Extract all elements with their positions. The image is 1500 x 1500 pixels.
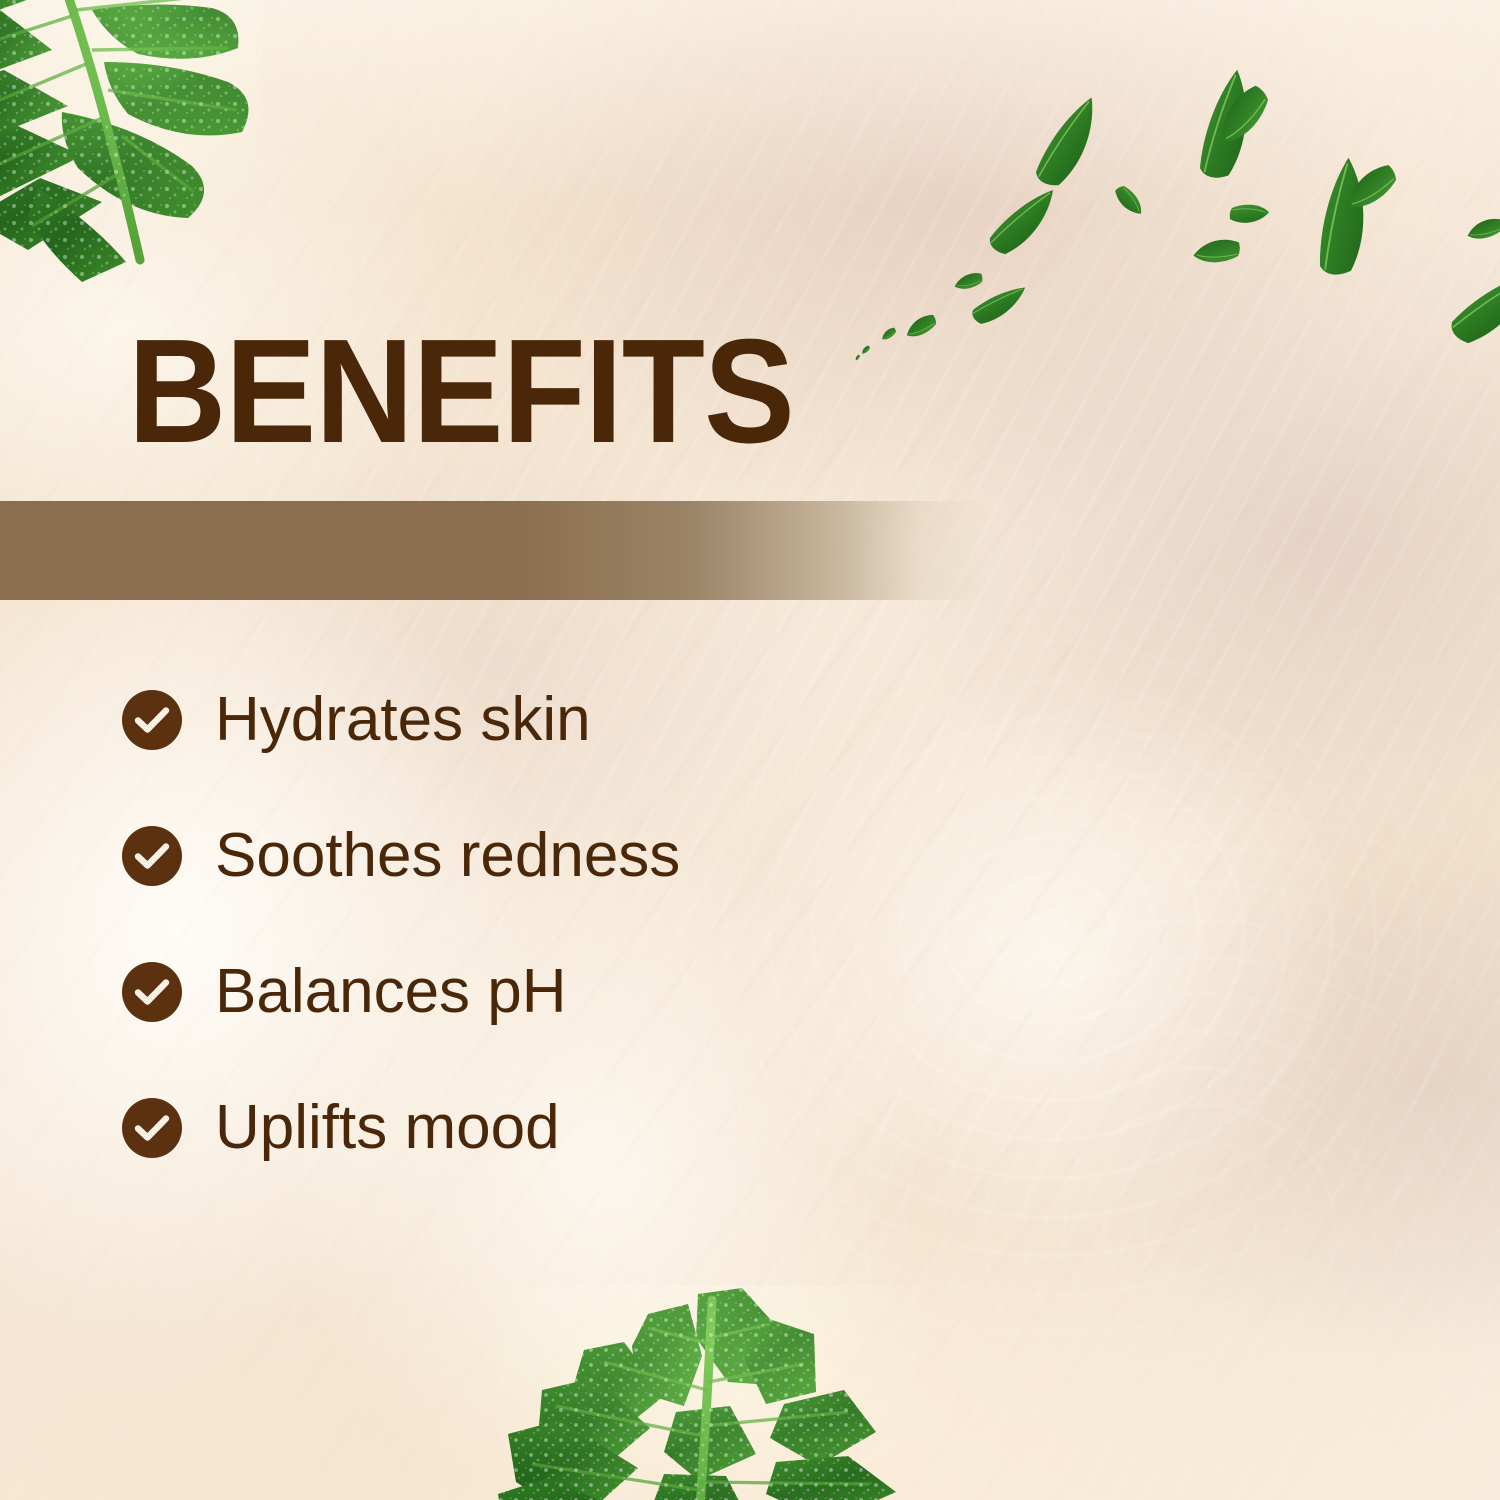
list-item: Soothes redness [122,826,1022,886]
list-item: Hydrates skin [122,690,1022,750]
benefits-poster: BENEFITS Hydrates skin Soothes redness [0,0,1500,1500]
monstera-leaf-icon-bottom [498,1286,918,1500]
check-circle-icon [122,690,182,750]
gradient-divider-bar [0,501,990,600]
page-title: BENEFITS [128,318,794,466]
benefit-label: Soothes redness [215,825,680,887]
benefits-list: Hydrates skin Soothes redness Balances p… [122,690,1022,1158]
check-circle-icon [122,1098,182,1158]
benefit-label: Uplifts mood [215,1097,560,1159]
check-circle-icon [122,962,182,1022]
scattered-mint-leaves [840,60,1500,340]
benefit-label: Hydrates skin [215,689,591,751]
list-item: Balances pH [122,962,1022,1022]
list-item: Uplifts mood [122,1098,1022,1158]
check-circle-icon [122,826,182,886]
monstera-leaf-icon-top-left [0,0,302,290]
benefit-label: Balances pH [215,961,567,1023]
